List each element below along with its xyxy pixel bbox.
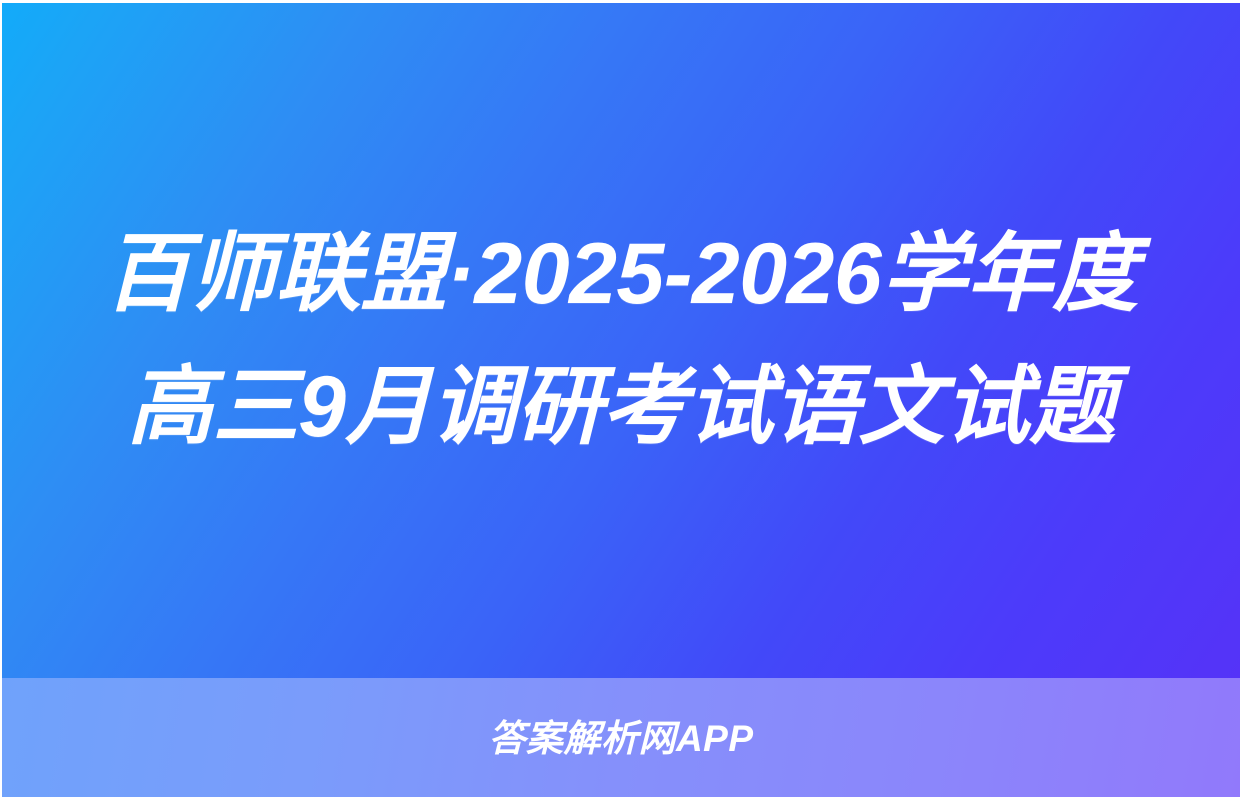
page-title: 百师联盟·2025-2026学年度高三9月调研考试语文试题 [86, 208, 1156, 473]
share-card: 百师联盟·2025-2026学年度高三9月调研考试语文试题 答案解析网APP [2, 3, 1240, 797]
hero-banner: 百师联盟·2025-2026学年度高三9月调研考试语文试题 [2, 3, 1240, 678]
app-watermark-label: 答案解析网APP [488, 720, 753, 757]
watermark-band: 答案解析网APP [2, 678, 1240, 797]
share-card-screenshot: 百师联盟·2025-2026学年度高三9月调研考试语文试题 答案解析网APP [0, 0, 1242, 800]
